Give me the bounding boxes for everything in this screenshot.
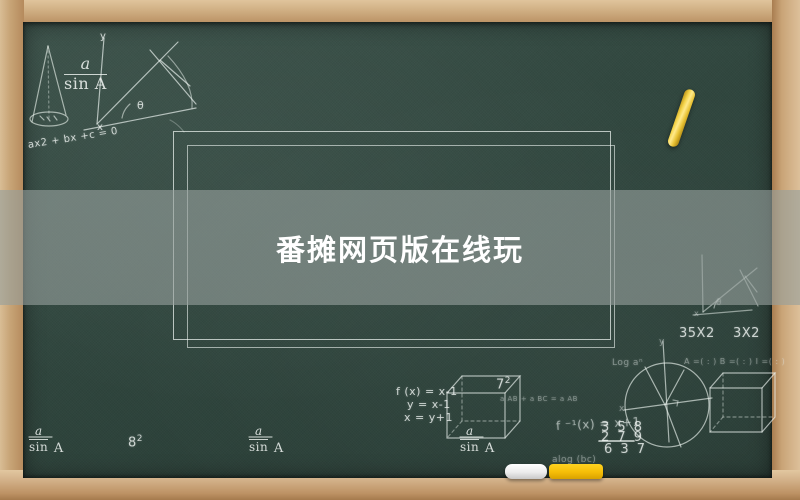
power-seven: 72: [496, 376, 511, 392]
frac-numerator: a: [81, 56, 91, 73]
frac-a-over-sin-a: a sin A: [29, 425, 48, 453]
frac-numerator: a: [35, 425, 42, 438]
frac-numerator: a: [466, 425, 473, 438]
page-title: 番摊网页版在线玩: [0, 190, 800, 305]
frac-denominator: sin: [29, 441, 48, 454]
frac-numerator: a: [255, 425, 262, 438]
addition-result: 6 3 7: [604, 442, 647, 457]
frac-denominator: sin: [460, 441, 479, 454]
frac-a-over-sin-a: a sin A: [64, 56, 107, 93]
multiply-35x2: 35X2: [679, 326, 715, 341]
frac-denominator: sin: [249, 441, 268, 454]
multiply-3x2: 3X2: [733, 326, 760, 341]
axis-label-x: x: [694, 309, 699, 318]
axis-label-y: y: [659, 337, 665, 347]
power-eight: 82: [128, 434, 143, 450]
axis-label-y: y: [100, 31, 106, 42]
function-line-2: y = x-1: [407, 398, 451, 411]
axis-label-x: x: [619, 404, 625, 414]
frac-a-over-sin-a: a sin A: [460, 425, 479, 453]
chalkboard-banner: ax2 + bx +c = 0 y x θ a sin A a sin A a …: [0, 0, 800, 500]
power-exponent: 2: [137, 434, 143, 444]
power-exponent: 2: [505, 376, 511, 386]
yellow-eraser[interactable]: [549, 464, 603, 479]
axis-label-x: x: [97, 122, 103, 133]
frac-suffix: A: [54, 442, 63, 456]
power-base: 8: [128, 435, 137, 450]
matrix-notation: A =( : ) B =( : ) I =( : ): [684, 357, 785, 366]
frame-bevel-top: [0, 0, 800, 24]
power-base: 7: [496, 377, 505, 392]
angle-label-theta: θ: [137, 99, 144, 112]
function-line-1: f (x) = x-1: [396, 385, 458, 398]
log-a-n: Log aⁿ: [612, 358, 643, 368]
small-equation: a AB + a BC = a AB: [500, 395, 578, 403]
frac-denominator: sin A: [64, 76, 107, 93]
frac-a-over-sin-a: a sin A: [249, 425, 268, 453]
white-eraser[interactable]: [505, 464, 547, 479]
function-line-3: x = y+1: [404, 411, 453, 424]
frac-suffix: A: [485, 442, 494, 456]
frac-suffix: A: [274, 442, 283, 456]
